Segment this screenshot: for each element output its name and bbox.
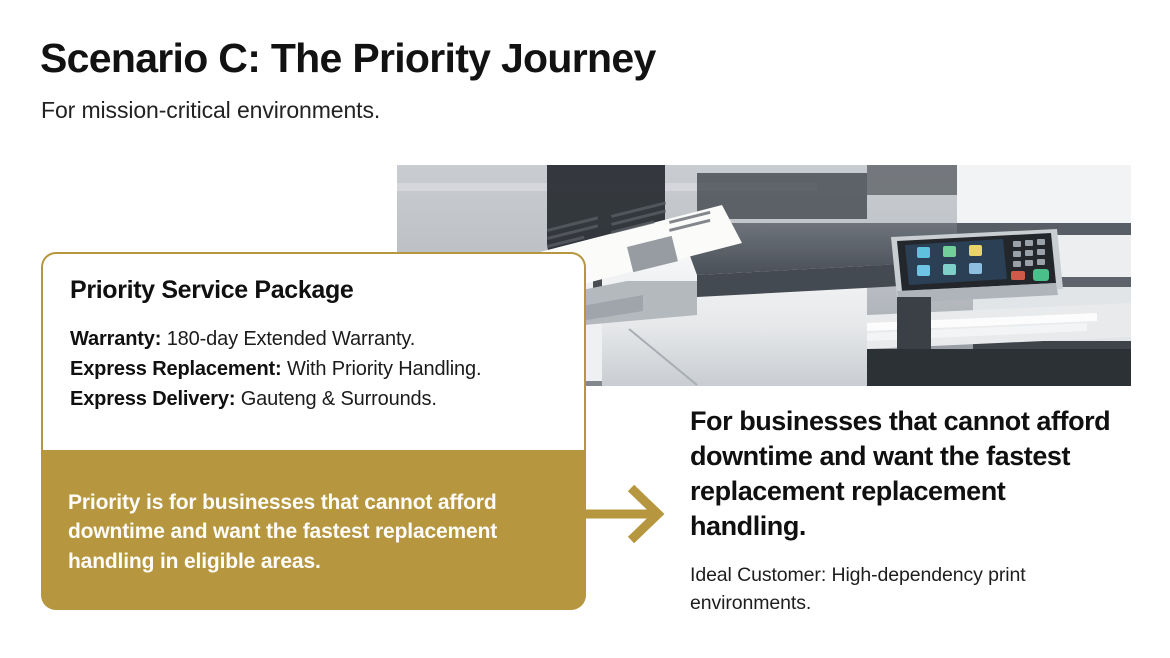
page-subtitle: For mission-critical environments. [41,97,380,124]
gold-callout-text: Priority is for businesses that cannot a… [68,488,556,576]
spec-row-express-delivery: Express Delivery: Gauteng & Surrounds. [70,385,558,415]
spec-row-warranty-value: 180-day Extended Warranty. [167,328,415,350]
arrow-right-icon [586,478,672,550]
slide-canvas: Scenario C: The Priority Journey For mis… [0,0,1170,658]
right-headline: For businesses that cannot afford downti… [690,404,1120,544]
spec-row-express-replacement-label: Express Replacement: [70,358,282,380]
ideal-customer-caption: Ideal Customer: High-dependency print en… [690,562,1090,617]
spec-row-warranty-label: Warranty: [70,328,161,350]
gold-callout-panel: Priority is for businesses that cannot a… [41,450,586,610]
spec-row-express-delivery-value: Gauteng & Surrounds. [241,388,437,410]
page-title: Scenario C: The Priority Journey [40,35,656,82]
spec-row-express-replacement-value: With Priority Handling. [287,358,481,380]
spec-card-heading: Priority Service Package [70,276,558,305]
spec-row-warranty: Warranty: 180-day Extended Warranty. [70,325,558,355]
spec-row-express-delivery-label: Express Delivery: [70,388,235,410]
arrow-right-icon-glyph [586,478,672,550]
priority-service-package-card: Priority Service Package Warranty: 180-d… [41,252,586,450]
spec-row-express-replacement: Express Replacement: With Priority Handl… [70,355,558,385]
